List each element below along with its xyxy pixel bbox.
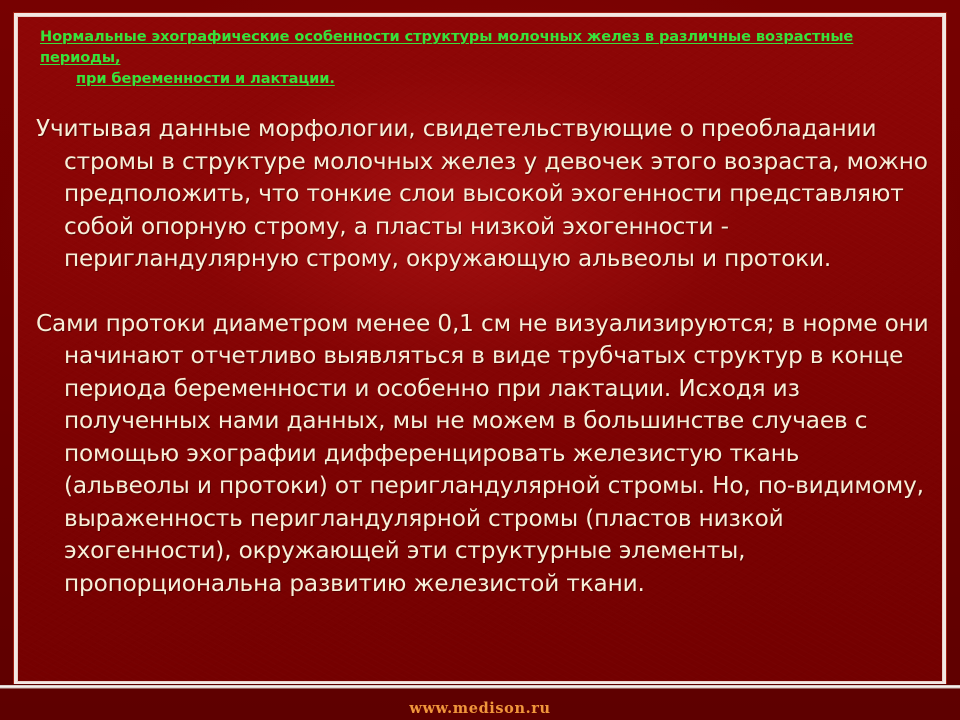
slide-title: Нормальные эхографические особенности ст… [36, 26, 926, 89]
slide-title-line-2: при беременности и лактации. [40, 68, 926, 89]
footer-website-label: www.medison.ru [0, 700, 960, 717]
presentation-slide: Нормальные эхографические особенности ст… [0, 0, 960, 720]
body-paragraph-2: Сами протоки диаметром менее 0,1 см не в… [26, 308, 932, 601]
slide-content-panel: Нормальные эхографические особенности ст… [18, 17, 942, 681]
body-paragraph-1: Учитывая данные морфологии, свидетельств… [26, 113, 932, 276]
footer-divider [0, 684, 960, 690]
slide-title-block: Нормальные эхографические особенности ст… [26, 26, 926, 89]
slide-body-block: Учитывая данные морфологии, свидетельств… [26, 113, 932, 600]
slide-title-line-1: Нормальные эхографические особенности ст… [40, 28, 853, 66]
